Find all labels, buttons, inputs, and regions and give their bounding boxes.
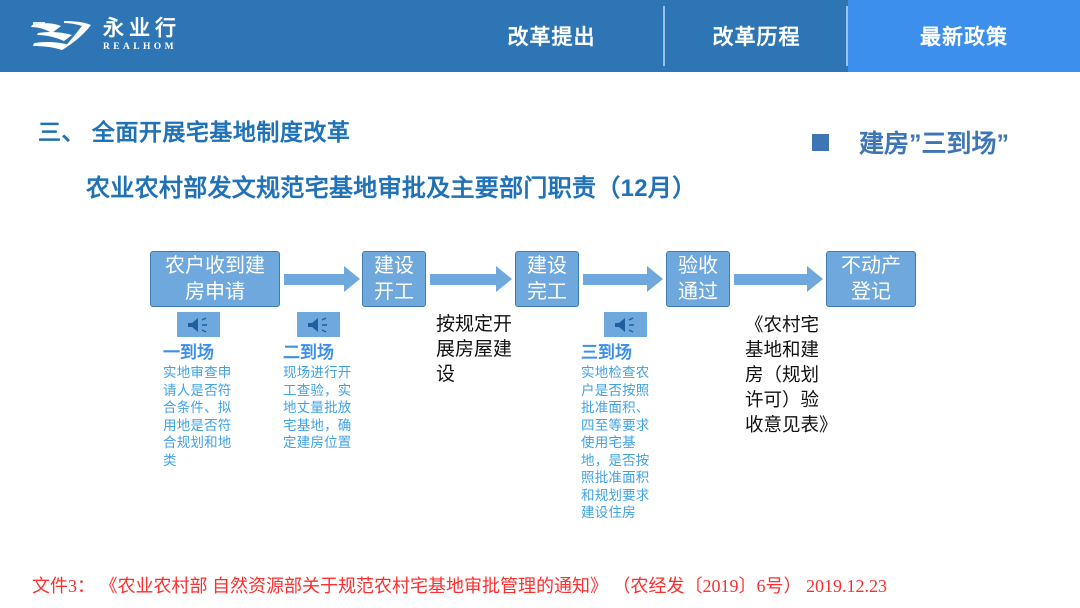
speaker-icon-2[interactable] (297, 312, 340, 337)
flow-column-1-title: 一到场 (163, 342, 241, 363)
flow-column-3: 三到场 实地检查农户是否按照批准面积、四至等要求使用宅基地，是否按照批准面积和规… (581, 342, 659, 522)
flow-box-1[interactable]: 农户收到建房申请 (150, 251, 280, 307)
source-footnote: 文件3： 《农业农村部 自然资源部关于规范农村宅基地审批管理的通知》 （农经发〔… (32, 572, 887, 598)
slide-root: 永业行 REALHOM 改革提出 改革历程 最新政策 三、 全面开展宅基地制度改… (0, 0, 1080, 608)
flow-box-5[interactable]: 不动产登记 (826, 251, 916, 307)
flow-arrow-2 (430, 266, 512, 292)
flow-column-2-title: 二到场 (283, 342, 361, 363)
flow-column-2-body: 现场进行开工查验，实地丈量批放宅基地，确定建房位置 (283, 364, 361, 452)
speaker-icon-1[interactable] (177, 312, 220, 337)
flow-arrow-4 (734, 266, 823, 292)
flow-box-2[interactable]: 建设开工 (362, 251, 426, 307)
flow-note-acceptance-form: 《农村宅基地和建房（规划许可）验收意见表》 (745, 312, 831, 437)
flow-arrow-3 (583, 266, 663, 292)
flow-box-3[interactable]: 建设完工 (515, 251, 579, 307)
flow-column-2: 二到场 现场进行开工查验，实地丈量批放宅基地，确定建房位置 (283, 342, 361, 452)
flow-column-3-title: 三到场 (581, 342, 659, 363)
flow-box-4[interactable]: 验收通过 (666, 251, 730, 307)
speaker-icon-3[interactable] (604, 312, 647, 337)
flow-arrow-1 (284, 266, 360, 292)
process-flow-diagram: 农户收到建房申请 建设开工 建设完工 验收通过 不动产登记 (0, 0, 1080, 608)
flow-column-3-body: 实地检查农户是否按照批准面积、四至等要求使用宅基地，是否按照批准面积和规划要求建… (581, 364, 659, 522)
flow-column-1: 一到场 实地审查申请人是否符合条件、拟用地是否符合规划和地类 (163, 342, 241, 469)
flow-column-1-body: 实地审查申请人是否符合条件、拟用地是否符合规划和地类 (163, 364, 241, 469)
flow-note-construction: 按规定开展房屋建设 (436, 312, 516, 387)
